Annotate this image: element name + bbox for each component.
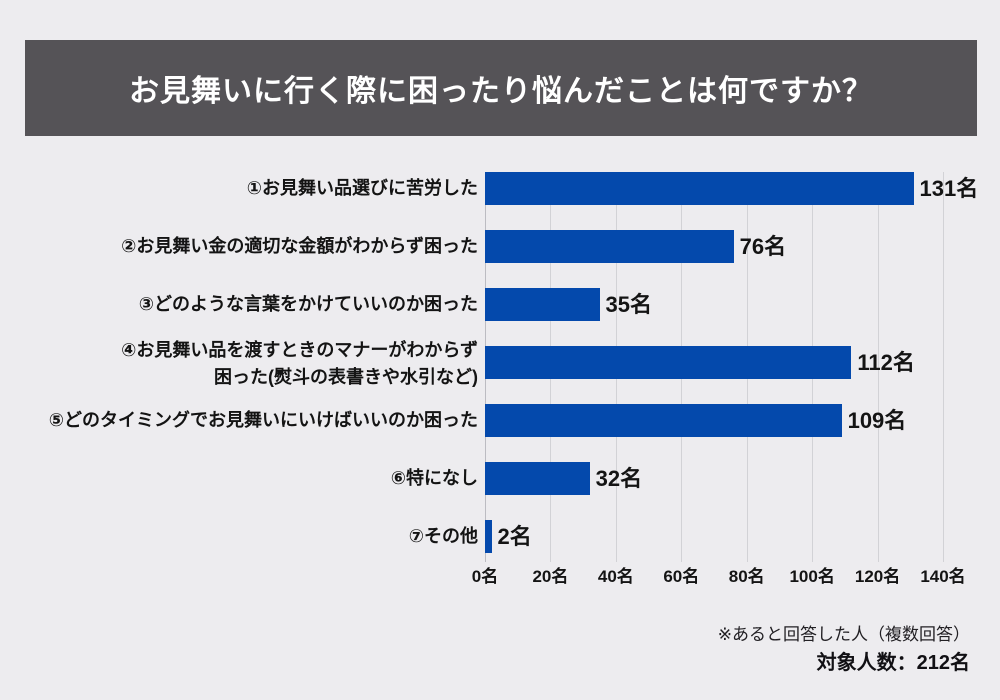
bar-2[interactable] [485, 230, 734, 263]
page-title: お見舞いに行く際に困ったり悩んだことは何ですか？ [129, 66, 873, 110]
bar-value-1: 131名 [920, 172, 979, 205]
bar-value-4: 112名 [857, 346, 915, 379]
bar-5[interactable] [485, 404, 842, 437]
chart-row: ②お見舞い金の適切な金額がわからず困った76名 [0, 230, 1000, 288]
x-tick-100: 100名 [789, 562, 834, 587]
x-tick-120: 120名 [855, 562, 900, 587]
footer-note: ※あると回答した人（複数回答） [718, 622, 970, 648]
chart-row: ④お見舞い品を渡すときのマナーがわからず 困った(熨斗の表書きや水引など)112… [0, 346, 1000, 404]
category-label-6: ⑥特になし [8, 466, 478, 491]
bar-6[interactable] [485, 462, 590, 495]
chart-page: お見舞いに行く際に困ったり悩んだことは何ですか？ ①お見舞い品選びに苦労した13… [0, 0, 1000, 700]
footer: ※あると回答した人（複数回答） 対象人数：212名 [718, 622, 970, 678]
chart-row: ①お見舞い品選びに苦労した131名 [0, 172, 1000, 230]
bar-4[interactable] [485, 346, 851, 379]
x-tick-0: 0名 [472, 562, 498, 587]
bar-value-5: 109名 [848, 404, 907, 437]
bar-value-2: 76名 [740, 230, 786, 263]
chart-rows: ①お見舞い品選びに苦労した131名②お見舞い金の適切な金額がわからず困った76名… [0, 160, 1000, 570]
bar-chart: ①お見舞い品選びに苦労した131名②お見舞い金の適切な金額がわからず困った76名… [0, 160, 1000, 580]
chart-row: ⑥特になし32名 [0, 462, 1000, 520]
x-tick-60: 60名 [663, 562, 699, 587]
footer-total: 対象人数：212名 [718, 648, 970, 678]
x-tick-20: 20名 [532, 562, 568, 587]
bar-1[interactable] [485, 172, 914, 205]
x-tick-80: 80名 [729, 562, 765, 587]
bar-value-7: 2名 [498, 520, 532, 553]
x-tick-140: 140名 [920, 562, 965, 587]
bar-7[interactable] [485, 520, 492, 553]
category-label-4: ④お見舞い品を渡すときのマナーがわからず 困った(熨斗の表書きや水引など) [8, 337, 478, 391]
category-label-3: ③どのような言葉をかけていいのか困った [8, 292, 478, 317]
category-label-2: ②お見舞い金の適切な金額がわからず困った [8, 234, 478, 259]
x-axis: 0名20名40名60名80名100名120名140名 [485, 562, 943, 592]
x-tick-40: 40名 [598, 562, 634, 587]
category-label-5: ⑤どのタイミングでお見舞いにいけばいいのか困った [8, 408, 478, 433]
chart-row: ⑤どのタイミングでお見舞いにいけばいいのか困った109名 [0, 404, 1000, 462]
category-label-1: ①お見舞い品選びに苦労した [8, 176, 478, 201]
bar-value-6: 32名 [596, 462, 642, 495]
bar-value-3: 35名 [606, 288, 652, 321]
category-label-7: ⑦その他 [8, 524, 478, 549]
bar-3[interactable] [485, 288, 600, 321]
title-banner: お見舞いに行く際に困ったり悩んだことは何ですか？ [25, 40, 977, 136]
